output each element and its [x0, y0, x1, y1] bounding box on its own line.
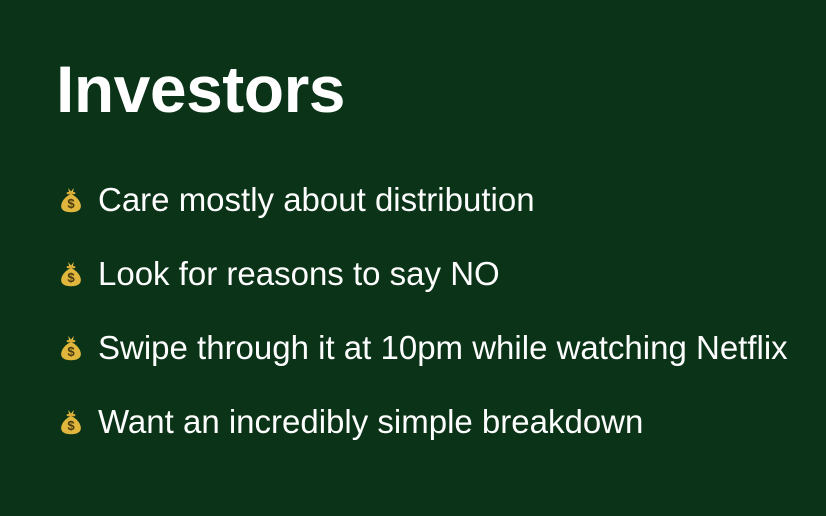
svg-text:$: $	[67, 344, 75, 359]
slide-canvas: Investors $ Care mostly about distributi…	[0, 0, 826, 516]
money-bag-icon: $	[56, 185, 86, 215]
list-item: $ Look for reasons to say NO	[56, 237, 816, 311]
svg-text:$: $	[67, 270, 75, 285]
money-bag-icon: $	[56, 259, 86, 289]
list-item-label: Look for reasons to say NO	[98, 256, 500, 292]
list-item-label: Care mostly about distribution	[98, 182, 535, 218]
bullet-list: $ Care mostly about distribution $ Look …	[56, 163, 816, 459]
page-title: Investors	[56, 56, 345, 122]
list-item-label: Want an incredibly simple breakdown	[98, 404, 643, 440]
list-item: $ Care mostly about distribution	[56, 163, 816, 237]
list-item-label: Swipe through it at 10pm while watching …	[98, 330, 788, 366]
money-bag-icon: $	[56, 333, 86, 363]
svg-text:$: $	[67, 418, 75, 433]
list-item: $ Swipe through it at 10pm while watchin…	[56, 311, 816, 385]
svg-text:$: $	[67, 196, 75, 211]
money-bag-icon: $	[56, 407, 86, 437]
list-item: $ Want an incredibly simple breakdown	[56, 385, 816, 459]
